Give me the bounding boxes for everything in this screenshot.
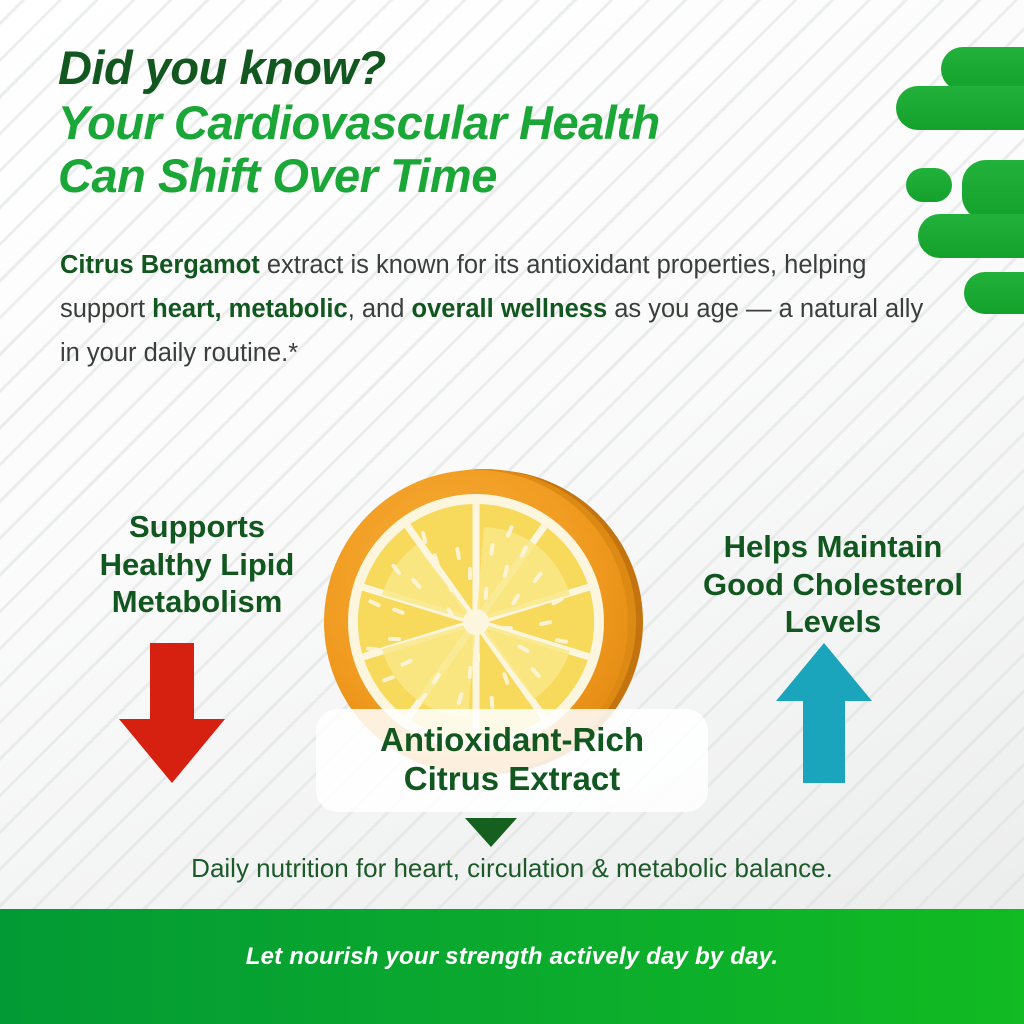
benefit-left-line-3: Metabolism [42,583,352,621]
center-badge: Antioxidant-Rich Citrus Extract [316,709,708,812]
benefit-right-line-1: Helps Maintain [668,528,998,566]
headline-block: Did you know? Your Cardiovascular Health… [58,44,898,199]
decorative-blob-icon [962,160,1024,220]
headline-line-1: Did you know? [58,44,898,91]
benefit-left-line-1: Supports [42,508,352,546]
benefit-left-line-2: Healthy Lipid [42,546,352,584]
benefits-section: Supports Healthy Lipid Metabolism Helps … [0,440,1024,840]
body-bold-heart-metabolic: heart, metabolic [152,295,348,323]
footer-text: Let nourish your strength actively day b… [0,943,1024,971]
center-badge-line-1: Antioxidant-Rich [326,721,698,760]
benefit-left-label: Supports Healthy Lipid Metabolism [42,508,352,621]
body-text-2: , and [348,295,412,323]
headline-line-3: Can Shift Over Time [58,152,898,199]
decorative-blob-icon [964,272,1024,314]
body-bold-overall-wellness: overall wellness [412,295,608,323]
decorative-blob-icon [906,168,952,202]
center-badge-line-2: Citrus Extract [326,760,698,799]
arrow-up-icon [775,643,873,790]
arrow-down-icon [117,643,227,790]
decorative-blob-icon [941,47,1024,91]
infographic-poster: Did you know? Your Cardiovascular Health… [0,0,1024,1024]
decorative-blob-icon [896,86,1024,130]
caption-text: Daily nutrition for heart, circulation &… [0,853,1024,884]
headline-line-2: Your Cardiovascular Health [58,99,898,146]
benefit-right-line-2: Good Cholesterol [668,566,998,604]
footer-bar: Let nourish your strength actively day b… [0,909,1024,1024]
benefit-right-label: Helps Maintain Good Cholesterol Levels [668,528,998,641]
body-bold-citrus-bergamot: Citrus Bergamot [60,251,260,279]
benefit-right-line-3: Levels [668,603,998,641]
triangle-down-icon [465,818,517,847]
body-paragraph: Citrus Bergamot extract is known for its… [60,244,950,376]
